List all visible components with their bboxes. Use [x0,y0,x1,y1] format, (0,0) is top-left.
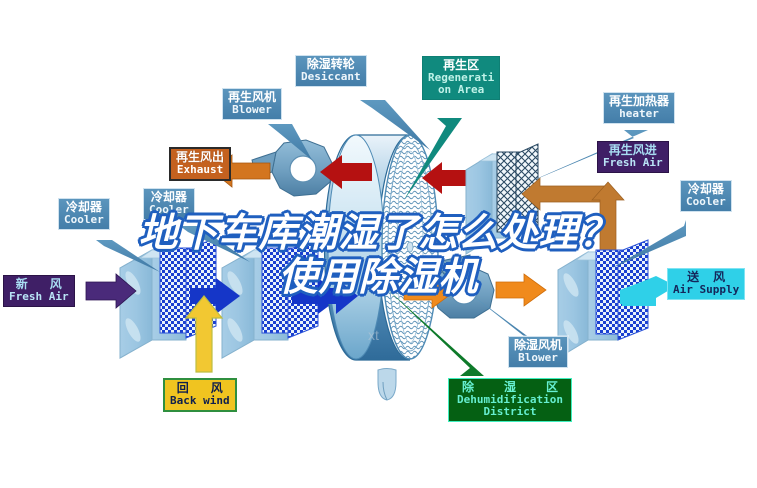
label-en: heater [609,108,669,120]
label-cn: 冷却器 [686,183,726,196]
label-en-line2: District [454,406,566,418]
label-cn: 送风 [673,271,739,284]
label-cn: 再生风进 [603,144,663,157]
dehum-out-arrow-2 [496,274,546,306]
label-cn: 再生区 [428,59,494,72]
label-en: Blower [514,352,562,364]
label-regeneration-area[interactable]: 再生区 Regenerati on Area [422,56,500,100]
label-en: Exhaust [176,164,224,176]
label-regeneration-blower[interactable]: 再生风机 Blower [222,88,282,120]
label-en: Cooler [64,214,104,226]
label-air-supply[interactable]: 送风 Air Supply [667,268,745,300]
label-en: Desiccant [301,71,361,83]
watermark-text: xt [368,327,379,343]
regen-supply-arrow [522,178,608,210]
label-dehumidification-district[interactable]: 除湿区 Dehumidification District [448,378,572,422]
label-dehumidification-blower[interactable]: 除湿风机 Blower [508,336,568,368]
label-cn: 再生风出 [176,151,224,164]
label-en: Blower [228,104,276,116]
label-cn: 除湿区 [454,381,566,394]
label-cn: 除湿转轮 [301,58,361,71]
dehumidifier-diagram: xt 除湿转轮 Desiccant 再生风机 Blower 再生区 Regene… [0,0,757,488]
label-cn: 新风 [9,278,69,291]
label-en: Fresh Air [9,291,69,303]
label-regeneration-heater[interactable]: 再生加热器 heater [603,92,675,124]
label-cn: 再生加热器 [609,95,669,108]
label-cooler-left-2[interactable]: 冷却器 Cooler [143,188,195,220]
label-fresh-air[interactable]: 新风 Fresh Air [3,275,75,307]
label-cooler-right[interactable]: 冷却器 Cooler [680,180,732,212]
label-en: Fresh Air [603,157,663,169]
label-cn: 再生风机 [228,91,276,104]
label-en: Cooler [686,196,726,208]
label-regeneration-fresh-air[interactable]: 再生风进 Fresh Air [597,141,669,173]
diagram-graphics: xt [0,0,757,488]
label-en-line2: on Area [428,84,494,96]
label-en: Air Supply [673,284,739,296]
label-exhaust[interactable]: 再生风出 Exhaust [169,147,231,181]
label-cn: 回风 [170,382,230,395]
label-cn: 冷却器 [149,191,189,204]
label-cn: 冷却器 [64,201,104,214]
label-desiccant-wheel[interactable]: 除湿转轮 Desiccant [295,55,367,87]
label-en: Cooler [149,204,189,216]
label-en: Back wind [170,395,230,407]
label-cooler-left-1[interactable]: 冷却器 Cooler [58,198,110,230]
label-cn: 除湿风机 [514,339,562,352]
label-back-wind[interactable]: 回风 Back wind [163,378,237,412]
